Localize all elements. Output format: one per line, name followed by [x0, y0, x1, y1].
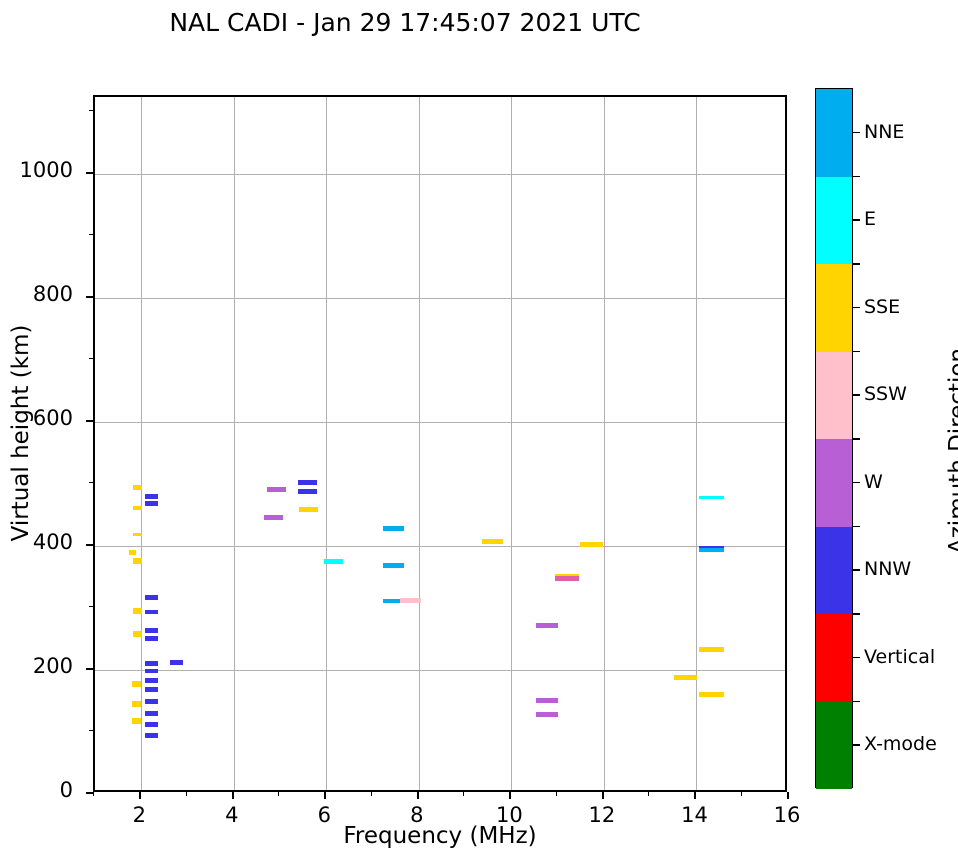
data-mark-sse	[699, 647, 724, 652]
x-axis-tick	[694, 792, 696, 799]
gridline-vertical	[141, 97, 142, 790]
colorbar-boundary-tick	[853, 263, 860, 265]
data-mark-nne	[383, 563, 404, 568]
colorbar-label-x-mode: X-mode	[864, 733, 937, 755]
colorbar-tick	[853, 307, 860, 309]
colorbar-segment-vertical[interactable]	[816, 614, 852, 702]
x-axis-title: Frequency (MHz)	[93, 823, 787, 849]
colorbar-segment-w[interactable]	[816, 439, 852, 527]
colorbar-tick	[853, 132, 860, 134]
gridline-horizontal	[95, 298, 785, 299]
x-axis-minor-tick	[463, 792, 464, 796]
gridline-vertical	[604, 97, 605, 790]
data-mark-sse	[299, 507, 318, 512]
data-mark-nnw	[145, 669, 158, 673]
plot-area[interactable]	[93, 95, 787, 792]
data-mark-nnw	[145, 661, 158, 666]
data-mark-sse	[580, 542, 603, 547]
data-mark-w	[536, 623, 558, 628]
colorbar[interactable]	[815, 88, 853, 788]
colorbar-label-e: E	[864, 208, 876, 230]
data-mark-nnw	[298, 489, 317, 494]
x-axis-minor-tick	[93, 792, 94, 796]
colorbar-tick	[853, 482, 860, 484]
gridline-horizontal	[95, 174, 785, 175]
x-axis-tick	[324, 792, 326, 799]
data-mark-nnw	[145, 494, 158, 499]
colorbar-tick	[853, 569, 860, 571]
data-mark-sse	[132, 718, 141, 724]
data-mark-nnw	[145, 628, 158, 633]
data-mark-sse	[674, 675, 697, 680]
colorbar-boundary-tick	[853, 701, 860, 703]
data-mark-nnw	[145, 722, 158, 727]
data-mark-sse	[699, 692, 724, 697]
colorbar-boundary-tick	[853, 351, 860, 353]
data-mark-sse	[129, 550, 136, 555]
colorbar-boundary-tick	[853, 176, 860, 178]
y-axis-tick	[86, 792, 93, 794]
x-axis-minor-tick	[556, 792, 557, 796]
gridline-vertical	[326, 97, 327, 790]
data-mark-w	[264, 515, 283, 520]
data-mark-sse	[132, 681, 141, 687]
colorbar-title: Azimuth Direction	[945, 291, 958, 611]
data-mark-sse	[133, 631, 142, 637]
y-axis-title: Virtual height (km)	[8, 283, 34, 583]
y-axis-tick	[86, 420, 93, 422]
data-mark-nne	[383, 526, 404, 531]
data-mark-nnw	[145, 687, 158, 692]
colorbar-boundary-tick	[853, 526, 860, 528]
colorbar-label-vertical: Vertical	[864, 646, 935, 668]
data-mark-nnw	[145, 501, 158, 506]
gridline-vertical	[511, 97, 512, 790]
ionogram-figure: NAL CADI - Jan 29 17:45:07 2021 UTC 0200…	[0, 0, 958, 857]
x-axis-tick	[509, 792, 511, 799]
data-mark-nnw	[170, 660, 183, 665]
y-axis-tick-label: 1000	[0, 158, 73, 182]
x-axis-tick	[787, 792, 789, 799]
gridline-vertical	[234, 97, 235, 790]
x-axis-tick	[139, 792, 141, 799]
x-axis-tick	[417, 792, 419, 799]
data-mark-w	[536, 698, 558, 703]
data-mark-nnw	[145, 733, 158, 738]
x-axis-tick	[602, 792, 604, 799]
data-mark-ssw	[555, 576, 579, 581]
colorbar-label-nnw: NNW	[864, 558, 911, 580]
x-axis-minor-tick	[648, 792, 649, 796]
data-mark-nnw	[145, 699, 158, 704]
colorbar-segment-nne[interactable]	[816, 89, 852, 177]
data-mark-e	[324, 559, 343, 564]
x-axis-minor-tick	[741, 792, 742, 796]
colorbar-tick	[853, 219, 860, 221]
data-mark-nnw	[145, 678, 158, 683]
y-axis-tick	[86, 544, 93, 546]
colorbar-segment-nnw[interactable]	[816, 527, 852, 615]
y-axis-tick	[86, 668, 93, 670]
colorbar-tick	[853, 657, 860, 659]
colorbar-label-w: W	[864, 471, 883, 493]
y-axis-tick-label: 200	[0, 654, 73, 678]
data-mark-ssw	[400, 598, 421, 603]
data-mark-w	[536, 712, 558, 717]
gridline-vertical	[419, 97, 420, 790]
colorbar-segment-sse[interactable]	[816, 264, 852, 352]
data-mark-w	[267, 487, 286, 492]
colorbar-label-sse: SSE	[864, 296, 900, 318]
colorbar-label-nne: NNE	[864, 121, 904, 143]
y-axis-tick	[86, 296, 93, 298]
x-axis-tick	[232, 792, 234, 799]
data-mark-sse	[133, 506, 142, 510]
x-axis-minor-tick	[371, 792, 372, 796]
data-mark-sse	[133, 485, 142, 490]
data-mark-sse	[482, 539, 503, 544]
gridline-horizontal	[95, 422, 785, 423]
data-mark-sse	[133, 558, 142, 564]
y-axis-tick	[86, 172, 93, 174]
data-mark-nnw	[145, 636, 158, 641]
data-mark-sse	[133, 608, 142, 614]
colorbar-segment-e[interactable]	[816, 177, 852, 265]
y-axis-tick-label: 0	[0, 778, 73, 802]
colorbar-tick	[853, 394, 860, 396]
page-title: NAL CADI - Jan 29 17:45:07 2021 UTC	[0, 8, 810, 37]
data-mark-nnw	[145, 711, 158, 716]
colorbar-boundary-tick	[853, 438, 860, 440]
colorbar-segment-x-mode[interactable]	[816, 702, 852, 790]
x-axis-minor-tick	[278, 792, 279, 796]
data-mark-sse	[133, 533, 142, 536]
colorbar-boundary-tick	[853, 613, 860, 615]
data-mark-nnw	[145, 610, 158, 614]
colorbar-segment-ssw[interactable]	[816, 352, 852, 440]
colorbar-label-ssw: SSW	[864, 383, 907, 405]
gridline-horizontal	[95, 546, 785, 547]
data-mark-nne	[699, 548, 724, 552]
x-axis-minor-tick	[186, 792, 187, 796]
colorbar-tick	[853, 744, 860, 746]
data-mark-nnw	[298, 480, 317, 485]
data-mark-nnw	[145, 595, 158, 600]
gridline-horizontal	[95, 670, 785, 671]
data-mark-e	[699, 496, 724, 499]
data-mark-sse	[132, 701, 141, 707]
gridline-vertical	[696, 97, 697, 790]
